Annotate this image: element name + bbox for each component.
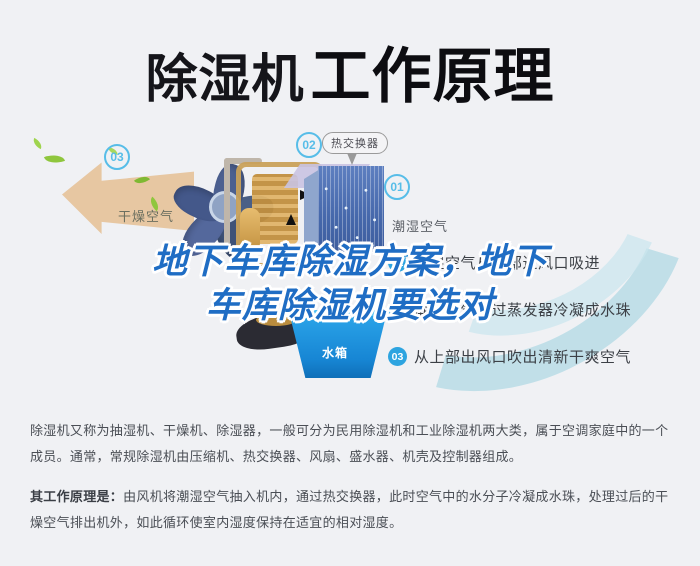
flow-arrow-up-icon [286,214,296,225]
refrigerant-pipe [224,158,230,246]
step-text-03: 从上部出风口吹出清新干爽空气 [414,346,631,367]
step-badge-02: 02 [388,300,407,319]
page-title: 除湿机工作原理 [0,28,700,115]
step-item: 02 潮湿空气经过蒸发器冷凝成水珠 [388,299,698,320]
callout-badge-02: 02 [296,132,322,158]
page-title-part1: 除湿机 [145,51,304,109]
step-badge-01: 01 [388,253,407,272]
callout-badge-03: 03 [104,144,130,170]
body-paragraph-2-lead: 其工作原理是： [30,489,123,504]
body-paragraph-2-rest: 由风机将潮湿空气抽入机内，通过热交换器，此时空气中的水分子冷凝成水珠，处理过后的… [30,489,668,530]
body-paragraph-2: 其工作原理是：由风机将潮湿空气抽入机内，通过热交换器，此时空气中的水分子冷凝成水… [30,484,675,536]
step-text-02: 潮湿空气经过蒸发器冷凝成水珠 [414,299,631,320]
step-badge-03: 03 [388,347,407,366]
machine-base-trim [256,314,296,326]
dehumidifier-diagram: 干燥空气 水箱 03 [0,118,700,410]
body-copy: 除湿机又称为抽湿机、干燥机、除湿器，一般可分为民用除湿机和工业除湿机两大类，属于… [30,418,675,550]
water-tank-label: 水箱 [322,344,348,361]
heat-exchanger-callout: 热交换器 [322,132,388,154]
step-item: 01 潮湿空气从下部进风口吸进 [388,252,698,273]
body-paragraph-1: 除湿机又称为抽湿机、干燥机、除湿器，一般可分为民用除湿机和工业除湿机两大类，属于… [30,418,675,470]
dry-air-label: 干燥空气 [118,206,174,225]
leaf-icon [31,138,44,149]
step-text-01: 潮湿空气从下部进风口吸进 [414,252,600,273]
page-root: 除湿机工作原理 干燥空气 [0,0,700,566]
humid-air-label: 潮湿空气 [392,216,448,235]
leaf-icon [44,151,65,166]
step-list: 01 潮湿空气从下部进风口吸进 02 潮湿空气经过蒸发器冷凝成水珠 03 从上部… [388,252,698,393]
condensation-droplets-icon [320,174,382,248]
compressor-cylinder-icon [240,208,260,252]
callout-badge-01: 01 [384,174,410,200]
step-item: 03 从上部出风口吹出清新干爽空气 [388,346,698,367]
page-title-part2: 工作原理 [311,43,555,110]
